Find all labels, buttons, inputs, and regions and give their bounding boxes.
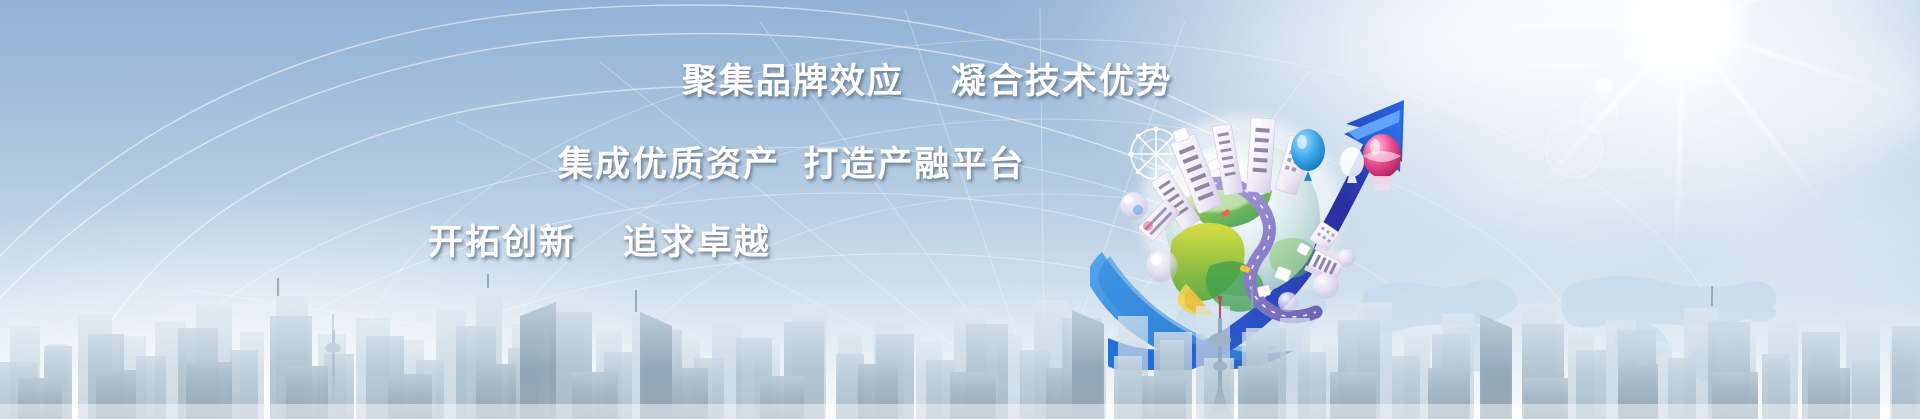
hero-banner: 聚集品牌效应 凝合技术优势 集成优质资产 打造产融平台 开拓创新 追求卓越 <box>0 0 1920 419</box>
slogan-line-1: 聚集品牌效应 凝合技术优势 <box>682 53 1173 104</box>
slogan-line-2: 集成优质资产 打造产融平台 <box>558 136 1025 187</box>
slogan-line-3: 开拓创新 追求卓越 <box>428 214 771 265</box>
slogan-group: 聚集品牌效应 凝合技术优势 集成优质资产 打造产融平台 开拓创新 追求卓越 <box>0 0 1920 419</box>
